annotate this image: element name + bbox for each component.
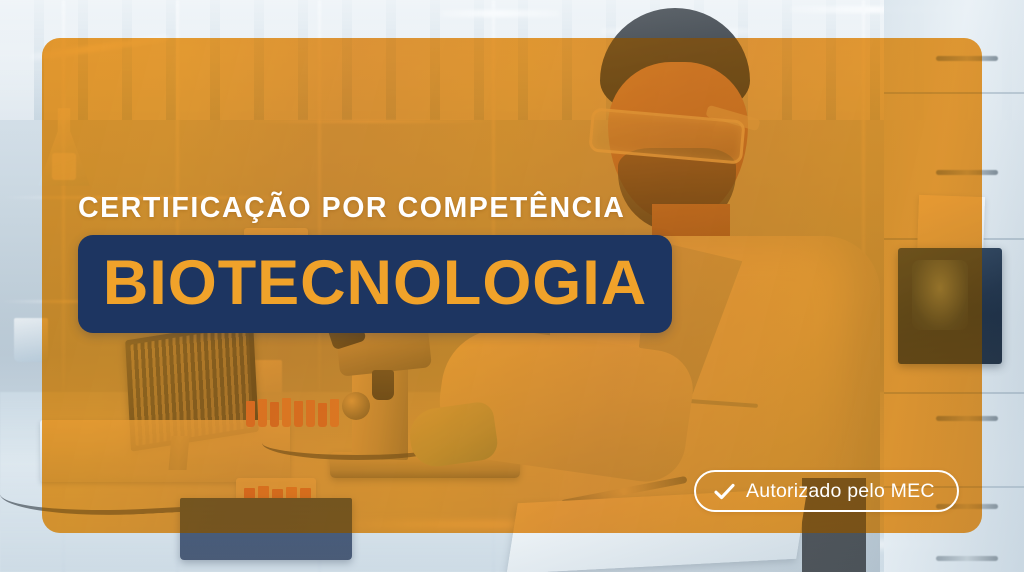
banner-content: CERTIFICAÇÃO POR COMPETÊNCIA BIOTECNOLOG… (42, 38, 982, 533)
kicker-text: CERTIFICAÇÃO POR COMPETÊNCIA (78, 194, 625, 223)
check-icon (714, 483, 735, 500)
title-box: BIOTECNOLOGIA (78, 235, 672, 333)
banner-stage: CERTIFICAÇÃO POR COMPETÊNCIA BIOTECNOLOG… (0, 0, 1024, 572)
mec-badge-label: Autorizado pelo MEC (746, 480, 935, 503)
page-title: BIOTECNOLOGIA (103, 252, 647, 315)
ceiling-beam (440, 10, 560, 17)
cabinet-handle (936, 556, 998, 561)
mec-authorization-badge: Autorizado pelo MEC (694, 470, 959, 512)
